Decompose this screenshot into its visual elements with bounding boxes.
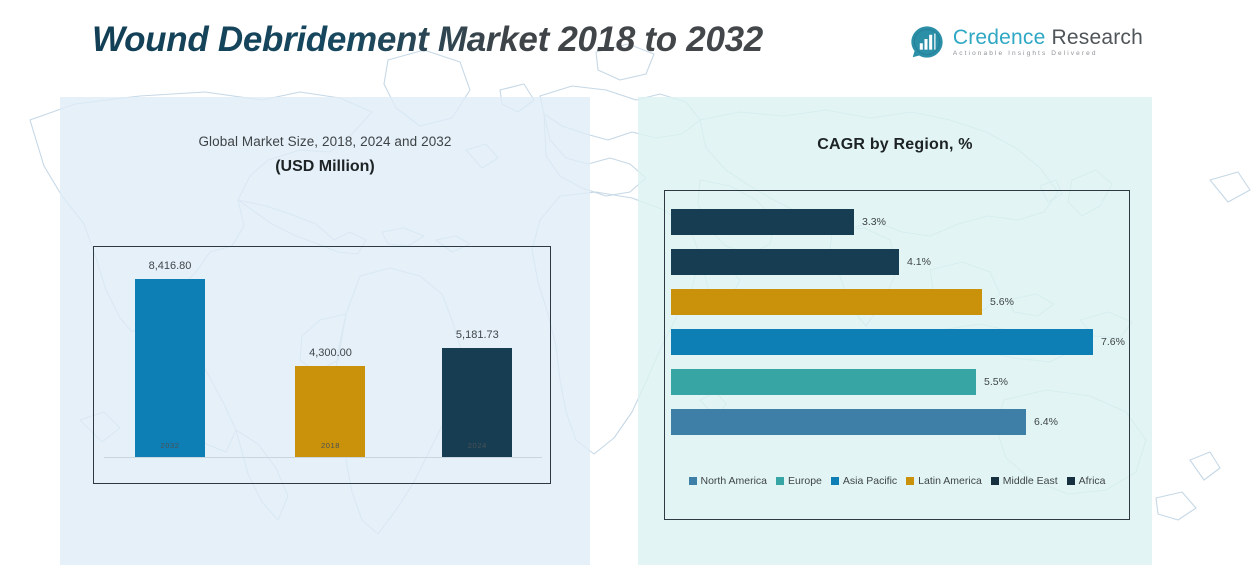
cagr-row: 5.6% [671,289,1014,315]
legend-item-africa[interactable]: Africa [1067,475,1106,487]
legend-label: Latin America [918,475,982,487]
market-size-heading: Global Market Size, 2018, 2024 and 2032 … [60,133,590,176]
cagr-value-middle-east: 4.1% [907,256,931,268]
bar-label-2024: 2024 [468,441,487,450]
cagr-bar-north-america[interactable] [671,409,1026,435]
cagr-value-africa: 3.3% [862,216,886,228]
cagr-bar-asia-pacific[interactable] [671,329,1093,355]
market-size-plot: 4,300.00 2018 5,181.73 2024 8,416.80 203… [94,247,550,483]
market-size-chart: 4,300.00 2018 5,181.73 2024 8,416.80 203… [93,246,551,484]
legend-item-middle-east[interactable]: Middle East [991,475,1058,487]
bar-group-2018: 4,300.00 2018 [255,267,407,457]
credence-logo-icon [910,25,944,59]
market-size-subtitle: (USD Million) [60,158,590,176]
cagr-value-north-america: 6.4% [1034,416,1058,428]
cagr-row: 3.3% [671,209,886,235]
legend-label: Middle East [1003,475,1058,487]
bar-label-2032: 2032 [160,441,179,450]
legend-label: Asia Pacific [843,475,897,487]
market-size-title: Global Market Size, 2018, 2024 and 2032 [198,134,451,149]
header: Wound Debridement Market 2018 to 2032 Cr… [0,0,1255,96]
cagr-chart: 3.3%4.1%5.6%7.6%5.5%6.4% North AmericaEu… [664,190,1130,520]
cagr-title: CAGR by Region, % [638,136,1152,154]
legend-label: Europe [788,475,822,487]
cagr-legend: North AmericaEuropeAsia PacificLatin Ame… [665,475,1129,487]
bar-value-2032: 8,416.80 [149,260,192,272]
page-title: Wound Debridement Market 2018 to 2032 [92,20,763,60]
legend-item-latin-america[interactable]: Latin America [906,475,982,487]
brand-tagline: Actionable Insights Delivered [953,51,1143,58]
legend-label: Africa [1079,475,1106,487]
legend-swatch-icon [689,477,697,485]
cagr-row: 5.5% [671,369,1008,395]
bar-label-2018: 2018 [321,441,340,450]
bar-group-2032: 8,416.80 2032 [94,267,246,457]
legend-swatch-icon [1067,477,1075,485]
bar-value-2018: 4,300.00 [309,347,352,359]
legend-item-north-america[interactable]: North America [689,475,768,487]
cagr-row: 7.6% [671,329,1125,355]
brand-logo[interactable]: Credence Research Actionable Insights De… [910,25,1143,59]
cagr-bar-africa[interactable] [671,209,854,235]
cagr-row: 4.1% [671,249,931,275]
legend-swatch-icon [776,477,784,485]
legend-swatch-icon [991,477,999,485]
legend-item-europe[interactable]: Europe [776,475,822,487]
legend-label: North America [701,475,768,487]
cagr-value-asia-pacific: 7.6% [1101,336,1125,348]
cagr-value-latin-america: 5.6% [990,296,1014,308]
cagr-bar-latin-america[interactable] [671,289,982,315]
bar-value-2024: 5,181.73 [456,329,499,341]
cagr-bar-europe[interactable] [671,369,976,395]
bar-group-2024: 5,181.73 2024 [401,267,553,457]
brand-name-accent: Credence [953,26,1046,49]
cagr-row: 6.4% [671,409,1058,435]
bar-2032[interactable] [135,279,205,457]
legend-swatch-icon [906,477,914,485]
legend-item-asia-pacific[interactable]: Asia Pacific [831,475,897,487]
brand-name: Credence Research [953,27,1143,48]
cagr-value-europe: 5.5% [984,376,1008,388]
brand-name-rest: Research [1045,26,1143,49]
legend-swatch-icon [831,477,839,485]
market-size-x-axis [104,457,542,458]
cagr-bars: 3.3%4.1%5.6%7.6%5.5%6.4% [671,209,1123,454]
cagr-bar-middle-east[interactable] [671,249,899,275]
